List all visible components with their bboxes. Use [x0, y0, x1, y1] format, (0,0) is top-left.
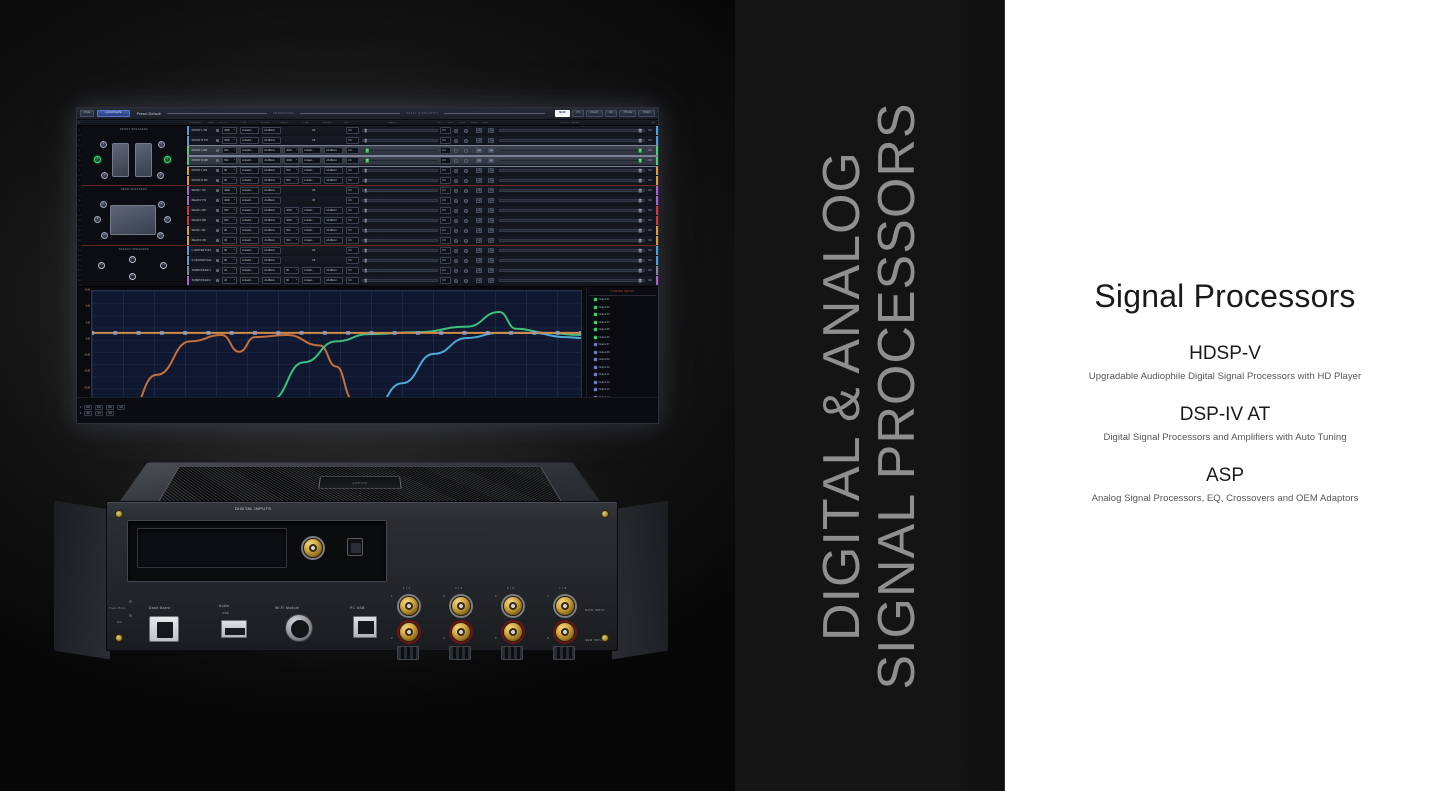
eq-node-handle[interactable] [369, 331, 373, 335]
delay-ms-field[interactable]: 0.0 [345, 196, 361, 205]
delay-slider-cell[interactable] [361, 126, 439, 135]
mute-button[interactable]: +0 [475, 276, 487, 285]
output-level-slider[interactable] [498, 196, 647, 205]
optical-toslink-port[interactable] [347, 538, 363, 556]
eq-node-handle[interactable] [206, 331, 210, 335]
eq-node-handle[interactable] [556, 331, 560, 335]
low-freq-field[interactable]: 500▾ [283, 166, 301, 175]
tab-phase[interactable]: PHASE [619, 110, 636, 118]
delay-cm-field[interactable]: 0.0 [439, 166, 453, 175]
legend-item-output-10[interactable]: Output 10 [589, 364, 656, 372]
low-slope-field[interactable]: 24 dB/oct [323, 236, 345, 245]
table-row[interactable]: REAR R TW4000▾Linkwitz...24 dB/octOff0.0… [187, 196, 658, 206]
speaker-node-16[interactable]: 16 [129, 273, 136, 280]
eq-node-handle[interactable] [253, 331, 257, 335]
high-slope-field[interactable]: 24 dB/oct [261, 216, 283, 225]
solo-button[interactable]: +0 [487, 236, 498, 245]
speaker-name-cell[interactable]: REAR L WF [189, 226, 215, 235]
solo-button[interactable]: +0 [487, 136, 498, 145]
low-freq-field[interactable]: 500▾ [283, 226, 301, 235]
invert-polarity-button[interactable] [463, 206, 475, 215]
eq-node-handle[interactable] [183, 331, 187, 335]
speaker-name-cell[interactable]: FRONT R MR [189, 156, 215, 165]
high-slope-field[interactable]: 24 dB/oct [261, 206, 283, 215]
invert-polarity-button[interactable] [463, 186, 475, 195]
cut-button[interactable] [453, 246, 463, 255]
high-freq-field[interactable]: 500▾ [221, 156, 239, 165]
speaker-node-2[interactable]: 2 [158, 141, 165, 148]
low-type-field[interactable]: Linkwit... [301, 226, 323, 235]
high-freq-field[interactable]: 500▾ [221, 206, 239, 215]
delay-slider-cell[interactable] [361, 156, 439, 165]
output-level-slider[interactable] [498, 256, 647, 265]
high-slope-field[interactable]: 24 dB/oct [261, 276, 283, 285]
delay-cm-field[interactable]: 0.0 [439, 156, 453, 165]
low-freq-field[interactable]: 80▾ [283, 276, 301, 285]
high-slope-field[interactable]: 24 dB/oct [261, 246, 283, 255]
mute-button[interactable]: +0 [475, 196, 487, 205]
low-slope-field[interactable]: 24 dB/oct [323, 166, 345, 175]
speaker-node-10[interactable]: 10 [164, 216, 171, 223]
speaker-name-cell[interactable]: SUBWOOFER 1 [189, 266, 215, 275]
low-type-field[interactable]: Linkwit... [301, 146, 323, 155]
speaker-node-14[interactable]: 14 [160, 262, 167, 269]
high-slope-field[interactable]: 24 dB/oct [261, 136, 283, 145]
eq-node-handle[interactable] [230, 331, 234, 335]
mute-button[interactable]: +0 [475, 206, 487, 215]
eq-node-handle[interactable] [137, 331, 141, 335]
high-type-field[interactable]: Linkwitz... [239, 236, 261, 245]
low-freq-field[interactable]: 500▾ [283, 236, 301, 245]
low-crossover-off[interactable]: Off [283, 246, 345, 255]
eq-node-handle[interactable] [113, 331, 117, 335]
high-type-field[interactable]: Linkwitz... [239, 226, 261, 235]
output-level-slider[interactable] [498, 146, 647, 155]
output-level-slider[interactable] [498, 156, 647, 165]
rca-jack-5[interactable] [503, 596, 523, 616]
legend-item-output-3[interactable]: Output 03 [589, 311, 656, 319]
low-freq-field[interactable]: 4000▾ [283, 156, 301, 165]
low-type-field[interactable]: Linkwit... [301, 266, 323, 275]
high-freq-field[interactable]: 4000▾ [221, 126, 239, 135]
delay-slider-cell[interactable] [361, 236, 439, 245]
speaker-name-cell[interactable]: REAR R TW [189, 196, 215, 205]
solo-button[interactable]: +0 [487, 126, 498, 135]
speaker-node-3[interactable]: 3 [94, 156, 101, 163]
low-slope-field[interactable]: 24 dB/oct [323, 276, 345, 285]
rca-jack-6[interactable] [503, 622, 523, 642]
delay-slider-cell[interactable] [361, 146, 439, 155]
high-type-field[interactable]: Linkwitz... [239, 196, 261, 205]
table-row[interactable]: FRONT R TW4000▾Linkwitz...24 dB/octOff0.… [187, 136, 658, 146]
low-freq-field[interactable]: 4000▾ [283, 216, 301, 225]
delay-cm-field[interactable]: 0.0 [439, 266, 453, 275]
high-freq-field[interactable]: 4000▾ [221, 196, 239, 205]
low-slope-field[interactable]: 24 dB/oct [323, 146, 345, 155]
mute-button[interactable]: +0 [475, 166, 487, 175]
low-type-field[interactable]: Linkwit... [301, 236, 323, 245]
load-save-button[interactable]: LOAD/SAVE [97, 110, 129, 118]
speaker-node-6[interactable]: 6 [157, 172, 164, 179]
speaker-node-15[interactable]: 15 [129, 256, 136, 263]
eq-node-handle[interactable] [393, 331, 397, 335]
table-row[interactable]: FRONT L WF80▾Linkwitz...24 dB/oct500▾Lin… [187, 166, 658, 176]
delay-ms-field[interactable]: 0.0 [345, 256, 361, 265]
speaker-name-cell[interactable]: REAR L MR [189, 206, 215, 215]
low-freq-field[interactable]: 80▾ [283, 266, 301, 275]
eq-node-handle[interactable] [509, 331, 513, 335]
delay-slider-cell[interactable] [361, 226, 439, 235]
delay-cm-field[interactable]: 0.0 [439, 206, 453, 215]
speaker-node-1[interactable]: 1 [100, 141, 107, 148]
rca-jack-1[interactable] [399, 596, 419, 616]
cut-button[interactable] [453, 216, 463, 225]
low-type-field[interactable]: Linkwit... [301, 216, 323, 225]
delay-slider-cell[interactable] [361, 186, 439, 195]
speaker-name-cell[interactable]: FRONT L MR [189, 146, 215, 155]
dsp-software-window[interactable]: FILE LOAD/SAVE Preset Default CROSSOVER … [76, 107, 659, 424]
low-type-field[interactable]: Linkwit... [301, 166, 323, 175]
low-slope-field[interactable]: 24 dB/oct [323, 176, 345, 185]
tab-video[interactable]: VIDEO [638, 110, 655, 118]
eq-node-handle[interactable] [486, 331, 490, 335]
output-level-slider[interactable] [498, 186, 647, 195]
invert-polarity-button[interactable] [463, 126, 475, 135]
invert-polarity-button[interactable] [463, 276, 475, 285]
high-slope-field[interactable]: 24 dB/oct [261, 126, 283, 135]
high-type-field[interactable]: Linkwitz... [239, 266, 261, 275]
output-level-slider[interactable] [498, 136, 647, 145]
low-type-field[interactable]: Linkwit... [301, 176, 323, 185]
eq-node-handle[interactable] [579, 331, 581, 335]
speaker-node-12[interactable]: 12 [157, 232, 164, 239]
eq-node-handle[interactable] [416, 331, 420, 335]
eq-node-handle[interactable] [463, 331, 467, 335]
delay-cm-field[interactable]: 0.0 [439, 186, 453, 195]
delay-ms-field[interactable]: 0.0 [345, 226, 361, 235]
delay-slider-cell[interactable] [361, 136, 439, 145]
high-freq-field[interactable]: 4000▾ [221, 136, 239, 145]
delay-ms-field[interactable]: 0.0 [345, 276, 361, 285]
high-freq-field[interactable]: 80▾ [221, 226, 239, 235]
high-type-field[interactable]: Linkwitz... [239, 246, 261, 255]
speaker-node-11[interactable]: 11 [101, 232, 108, 239]
high-slope-field[interactable]: 24 dB/oct [261, 176, 283, 185]
high-slope-field[interactable]: 24 dB/oct [261, 186, 283, 195]
table-row[interactable]: FRONT L MR500▾Linkwitz...24 dB/oct4000▾L… [187, 146, 658, 156]
speaker-name-cell[interactable]: FRONT R WF [189, 176, 215, 185]
speaker-node-13[interactable]: 13 [98, 262, 105, 269]
rca-jack-2[interactable] [399, 622, 419, 642]
delay-ms-field[interactable]: 0.0 [345, 186, 361, 195]
delay-ms-field[interactable]: 0.0 [345, 206, 361, 215]
speaker-name-cell[interactable]: REAR R MR [189, 216, 215, 225]
high-freq-field[interactable]: 80▾ [221, 256, 239, 265]
high-freq-field[interactable]: 20▾ [221, 276, 239, 285]
eq-node-handle[interactable] [160, 331, 164, 335]
solo-button[interactable]: +0 [487, 226, 498, 235]
delay-cm-field[interactable]: 0.0 [439, 196, 453, 205]
invert-polarity-button[interactable] [463, 196, 475, 205]
legend-item-output-2[interactable]: Output 02 [589, 304, 656, 312]
mute-button[interactable]: +0 [475, 156, 487, 165]
high-type-field[interactable]: Linkwitz... [239, 186, 261, 195]
high-freq-field[interactable]: 80▾ [221, 176, 239, 185]
low-crossover-off[interactable]: Off [283, 186, 345, 195]
delay-slider-cell[interactable] [361, 166, 439, 175]
table-row[interactable]: SUBWOOFER 120▾Linkwitz...24 dB/oct80▾Lin… [187, 266, 658, 276]
high-slope-field[interactable]: 24 dB/oct [261, 166, 283, 175]
legend-item-output-13[interactable]: Output 13 [589, 386, 656, 394]
eq-node-handle[interactable] [92, 331, 94, 335]
table-row[interactable]: REAR L MR500▾Linkwitz...24 dB/oct4000▾Li… [187, 206, 658, 216]
legend-item-output-4[interactable]: Output 04 [589, 319, 656, 327]
oem-input-molex-connector[interactable] [397, 646, 419, 660]
delay-slider-cell[interactable] [361, 276, 439, 285]
tab-delay[interactable]: DELAY [586, 110, 603, 118]
solo-button[interactable]: +0 [487, 216, 498, 225]
table-row[interactable]: R CENTER FULL80▾Linkwitz...24 dB/octOff0… [187, 256, 658, 266]
solo-button[interactable]: +0 [487, 146, 498, 155]
cut-button[interactable] [453, 206, 463, 215]
low-crossover-off[interactable]: Off [283, 196, 345, 205]
speaker-name-cell[interactable]: L CENTER FULL [189, 246, 215, 255]
solo-button[interactable]: +0 [487, 246, 498, 255]
audio-usb-a-port[interactable] [221, 620, 247, 638]
mute-button[interactable]: +0 [475, 216, 487, 225]
high-type-field[interactable]: Linkwitz... [239, 146, 261, 155]
delay-cm-field[interactable]: 0.0 [439, 176, 453, 185]
tab-main[interactable]: MAIN [555, 110, 570, 118]
delay-cm-field[interactable]: 0.0 [439, 136, 453, 145]
pc-usb-b-port[interactable] [353, 616, 377, 638]
output-level-slider[interactable] [498, 166, 647, 175]
delay-ms-field[interactable]: 0.0 [345, 216, 361, 225]
high-type-field[interactable]: Linkwitz... [239, 276, 261, 285]
solo-button[interactable]: +0 [487, 166, 498, 175]
zone-front-speakers[interactable]: FRONT SPEAKERS 1 2 3 4 5 6 [82, 126, 186, 186]
legend-item-output-6[interactable]: Output 06 [589, 334, 656, 342]
invert-polarity-button[interactable] [463, 246, 475, 255]
delay-slider-cell[interactable] [361, 246, 439, 255]
high-slope-field[interactable]: 24 dB/oct [261, 196, 283, 205]
delay-ms-field[interactable]: 0.0 [345, 176, 361, 185]
delay-cm-field[interactable]: 0.0 [439, 216, 453, 225]
speaker-node-8[interactable]: 8 [158, 201, 165, 208]
solo-button[interactable]: +0 [487, 176, 498, 185]
output-level-slider[interactable] [498, 216, 647, 225]
high-freq-field[interactable]: 20▾ [221, 266, 239, 275]
speaker-node-5[interactable]: 5 [101, 172, 108, 179]
high-slope-field[interactable]: 24 dB/oct [261, 146, 283, 155]
invert-polarity-button[interactable] [463, 156, 475, 165]
oem-input-molex-connector[interactable] [449, 646, 471, 660]
high-slope-field[interactable]: 24 dB/oct [261, 156, 283, 165]
cut-button[interactable] [453, 256, 463, 265]
legend-item-output-8[interactable]: Output 08 [589, 349, 656, 357]
low-type-field[interactable]: Linkwit... [301, 156, 323, 165]
delay-slider-cell[interactable] [361, 206, 439, 215]
cut-button[interactable] [453, 236, 463, 245]
table-row[interactable]: FRONT R MR500▾Linkwitz...24 dB/oct4000▾L… [187, 156, 658, 166]
high-type-field[interactable]: Linkwitz... [239, 126, 261, 135]
delay-ms-field[interactable]: 0.0 [345, 126, 361, 135]
high-type-field[interactable]: Linkwitz... [239, 156, 261, 165]
solo-button[interactable]: +0 [487, 196, 498, 205]
high-slope-field[interactable]: 24 dB/oct [261, 266, 283, 275]
legend-item-output-5[interactable]: Output 05 [589, 326, 656, 334]
cut-button[interactable] [453, 126, 463, 135]
delay-ms-field[interactable]: 0.0 [345, 136, 361, 145]
mute-button[interactable]: +0 [475, 136, 487, 145]
tab-eq[interactable]: EQ [605, 110, 617, 118]
eq-node-handle[interactable] [346, 331, 350, 335]
delay-slider-cell[interactable] [361, 266, 439, 275]
speaker-name-cell[interactable]: FRONT L TW [189, 126, 215, 135]
mute-button[interactable]: +0 [475, 186, 487, 195]
low-crossover-off[interactable]: Off [283, 136, 345, 145]
cut-button[interactable] [453, 166, 463, 175]
speaker-name-cell[interactable]: FRONT L WF [189, 166, 215, 175]
solo-button[interactable]: +0 [487, 256, 498, 265]
output-level-slider[interactable] [498, 226, 647, 235]
table-row[interactable]: SUBWOOFER 220▾Linkwitz...24 dB/oct80▾Lin… [187, 276, 658, 286]
delay-ms-field[interactable]: 0.0 [345, 236, 361, 245]
rca-jack-3[interactable] [451, 596, 471, 616]
low-freq-field[interactable]: 4000▾ [283, 146, 301, 155]
high-type-field[interactable]: Linkwitz... [239, 216, 261, 225]
speaker-node-4[interactable]: 4 [164, 156, 171, 163]
speaker-node-9[interactable]: 9 [94, 216, 101, 223]
high-type-field[interactable]: Linkwitz... [239, 206, 261, 215]
high-slope-field[interactable]: 24 dB/oct [261, 226, 283, 235]
table-row[interactable]: L CENTER FULL80▾Linkwitz...24 dB/octOff0… [187, 246, 658, 256]
coax-digital-jack[interactable] [303, 538, 323, 558]
invert-polarity-button[interactable] [463, 166, 475, 175]
legend-item-output-11[interactable]: Output 11 [589, 371, 656, 379]
speaker-name-cell[interactable]: REAR R WF [189, 236, 215, 245]
rca-jack-4[interactable] [451, 622, 471, 642]
legend-item-output-9[interactable]: Output 09 [589, 356, 656, 364]
zone-rear-speakers[interactable]: REAR SPEAKERS 7 8 9 10 11 12 [82, 186, 186, 246]
mute-button[interactable]: +0 [475, 256, 487, 265]
eq-node-handle[interactable] [323, 331, 327, 335]
delay-slider-cell[interactable] [361, 256, 439, 265]
output-level-slider[interactable] [498, 266, 647, 275]
delay-slider-cell[interactable] [361, 196, 439, 205]
delay-slider-cell[interactable] [361, 216, 439, 225]
invert-polarity-button[interactable] [463, 136, 475, 145]
cut-button[interactable] [453, 156, 463, 165]
delay-ms-field[interactable]: 0.0 [345, 166, 361, 175]
file-button[interactable]: FILE [80, 110, 94, 118]
output-level-slider[interactable] [498, 276, 647, 285]
table-row[interactable]: FRONT R WF80▾Linkwitz...24 dB/oct500▾Lin… [187, 176, 658, 186]
low-slope-field[interactable]: 24 dB/oct [323, 266, 345, 275]
invert-polarity-button[interactable] [463, 226, 475, 235]
rca-jack-8[interactable] [555, 622, 575, 642]
mute-button[interactable]: +0 [475, 246, 487, 255]
eq-node-handle[interactable] [300, 331, 304, 335]
high-type-field[interactable]: Linkwitz... [239, 256, 261, 265]
output-level-slider[interactable] [498, 176, 647, 185]
eq-node-handle[interactable] [439, 331, 443, 335]
high-type-field[interactable]: Linkwitz... [239, 136, 261, 145]
low-type-field[interactable]: Linkwit... [301, 276, 323, 285]
high-slope-field[interactable]: 24 dB/oct [261, 236, 283, 245]
high-type-field[interactable]: Linkwitz... [239, 176, 261, 185]
high-freq-field[interactable]: 500▾ [221, 146, 239, 155]
invert-polarity-button[interactable] [463, 216, 475, 225]
delay-cm-field[interactable]: 0.0 [439, 236, 453, 245]
output-level-slider[interactable] [498, 236, 647, 245]
rca-jack-7[interactable] [555, 596, 575, 616]
high-freq-field[interactable]: 500▾ [221, 216, 239, 225]
delay-cm-field[interactable]: 0.0 [439, 276, 453, 285]
delay-ms-field[interactable]: 0.0 [345, 266, 361, 275]
speaker-name-cell[interactable]: FRONT R TW [189, 136, 215, 145]
delay-cm-field[interactable]: 0.0 [439, 226, 453, 235]
low-type-field[interactable]: Linkwit... [301, 206, 323, 215]
legend-item-output-1[interactable]: Output 01 [589, 296, 656, 304]
table-row[interactable]: FRONT L TW4000▾Linkwitz...24 dB/octOff0.… [187, 126, 658, 136]
low-crossover-off[interactable]: Off [283, 256, 345, 265]
delay-ms-field[interactable]: 0.0 [345, 246, 361, 255]
cut-button[interactable] [453, 146, 463, 155]
low-slope-field[interactable]: 24 dB/oct [323, 206, 345, 215]
dashboard-rj45-port[interactable] [149, 616, 179, 642]
eq-node-handle[interactable] [276, 331, 280, 335]
cut-button[interactable] [453, 176, 463, 185]
delay-ms-field[interactable]: 0.0 [345, 146, 361, 155]
delay-cm-field[interactable]: 0.0 [439, 256, 453, 265]
mute-button[interactable]: +0 [475, 226, 487, 235]
oem-input-molex-connector[interactable] [553, 646, 575, 660]
speaker-node-7[interactable]: 7 [100, 201, 107, 208]
delay-cm-field[interactable]: 0.0 [439, 146, 453, 155]
delay-slider-cell[interactable] [361, 176, 439, 185]
speaker-name-cell[interactable]: R CENTER FULL [189, 256, 215, 265]
delay-ms-field[interactable]: 0.0 [345, 156, 361, 165]
mute-button[interactable]: +0 [475, 266, 487, 275]
legend-item-output-12[interactable]: Output 12 [589, 379, 656, 387]
high-freq-field[interactable]: 4000▾ [221, 186, 239, 195]
cut-button[interactable] [453, 196, 463, 205]
tab-io[interactable]: I/O [572, 110, 584, 118]
high-slope-field[interactable]: 24 dB/oct [261, 256, 283, 265]
table-row[interactable]: REAR L TW4000▾Linkwitz...24 dB/octOff0.0… [187, 186, 658, 196]
high-freq-field[interactable]: 80▾ [221, 166, 239, 175]
delay-cm-field[interactable]: 0.0 [439, 246, 453, 255]
low-slope-field[interactable]: 24 dB/oct [323, 156, 345, 165]
low-slope-field[interactable]: 24 dB/oct [323, 216, 345, 225]
mute-button[interactable]: +0 [475, 126, 487, 135]
speaker-name-cell[interactable]: REAR L TW [189, 186, 215, 195]
invert-polarity-button[interactable] [463, 236, 475, 245]
output-level-slider[interactable] [498, 206, 647, 215]
invert-polarity-button[interactable] [463, 176, 475, 185]
solo-button[interactable]: +0 [487, 156, 498, 165]
table-row[interactable]: REAR R WF80▾Linkwitz...24 dB/oct500▾Link… [187, 236, 658, 246]
graph-plot-area[interactable] [91, 290, 582, 404]
low-freq-field[interactable]: 500▾ [283, 176, 301, 185]
mute-button[interactable]: +0 [475, 176, 487, 185]
output-level-slider[interactable] [498, 126, 647, 135]
low-freq-field[interactable]: 4000▾ [283, 206, 301, 215]
cut-button[interactable] [453, 266, 463, 275]
invert-polarity-button[interactable] [463, 266, 475, 275]
delay-cm-field[interactable]: 0.0 [439, 126, 453, 135]
